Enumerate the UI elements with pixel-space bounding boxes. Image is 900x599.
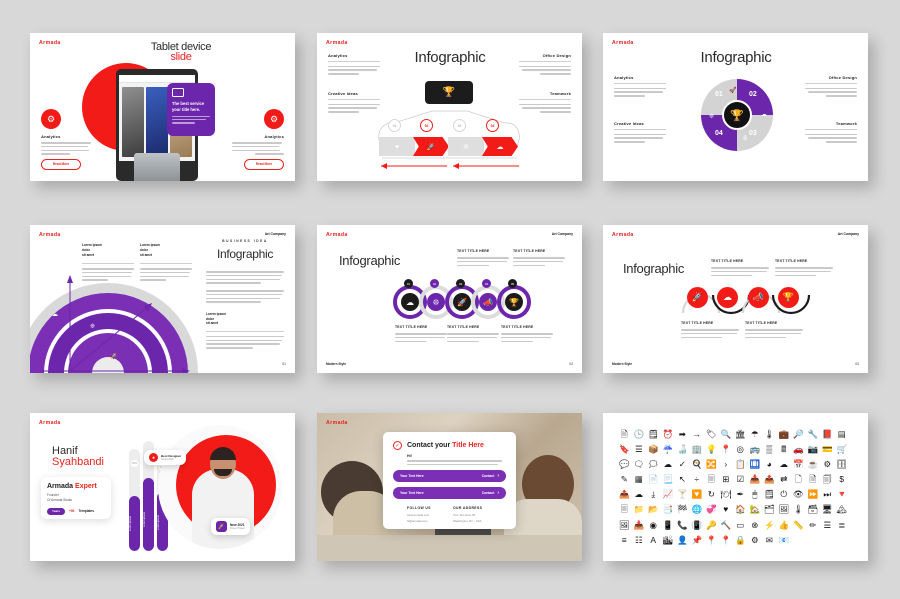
server-icon[interactable]: 🗄 bbox=[835, 457, 850, 471]
clipboard-icon[interactable]: 📋 bbox=[733, 457, 748, 471]
file-icon[interactable]: 🗎 bbox=[617, 427, 632, 441]
contact-title-primary: Contact your bbox=[407, 442, 452, 449]
tag1-sub: Award 2020 bbox=[161, 458, 181, 461]
inbox-icon[interactable]: 📥 bbox=[632, 518, 647, 532]
card-heading: TEXT TITLE HERE bbox=[681, 321, 739, 325]
chevron-icon[interactable]: › bbox=[719, 457, 734, 471]
grid-icon[interactable]: ▒ bbox=[762, 442, 777, 456]
follow-line-1: www.armada.com bbox=[407, 513, 431, 517]
mobile-icon[interactable]: 📳 bbox=[690, 518, 705, 532]
coffee-icon[interactable]: ☕ bbox=[806, 457, 821, 471]
folder-icon[interactable]: 📁 bbox=[632, 503, 647, 517]
map-pin-icon[interactable]: 📌 bbox=[690, 533, 705, 547]
slide5-bottom-card-1: TEXT TITLE HERE bbox=[395, 325, 447, 344]
slide-thumbnail-1[interactable]: Armada Tablet device slide The best serv… bbox=[30, 33, 295, 181]
list4-icon[interactable]: ☷ bbox=[632, 533, 647, 547]
thumbs-up-icon[interactable]: 👍 bbox=[777, 518, 792, 532]
mountain-icon[interactable]: 🏔 bbox=[835, 503, 850, 517]
list2-icon[interactable]: ≣ bbox=[835, 518, 850, 532]
cutlery-icon[interactable]: 🍽 bbox=[719, 488, 734, 502]
slide3-col-creative: Creative Ideas bbox=[614, 121, 666, 145]
marker-icon[interactable]: 📍 bbox=[719, 533, 734, 547]
slide-thumbnail-2[interactable]: Armada Infographic Analytics Creative Id… bbox=[317, 33, 582, 181]
suitcase-icon[interactable]: 🛄 bbox=[748, 457, 763, 471]
pin-icon[interactable]: 📍 bbox=[719, 442, 734, 456]
segment-label-03: 03 bbox=[749, 130, 757, 137]
slide1-left-heading: Analytics bbox=[41, 134, 93, 139]
swap-icon[interactable]: ⇄ bbox=[777, 472, 792, 486]
slide-thumbnail-5[interactable]: Armada Art Company Infographic TEXT TITL… bbox=[317, 225, 582, 373]
doc4-icon[interactable]: 🗎 bbox=[806, 472, 821, 486]
upload-file-icon[interactable]: 📤 bbox=[762, 472, 777, 486]
follow-us-block: FOLLOW US www.armada.com hi@armada.com bbox=[407, 506, 431, 523]
slide-thumbnail-8[interactable]: Armada ✓ Contact your Title Here Hi! You… bbox=[317, 413, 582, 561]
page-icon[interactable]: 🗏 bbox=[704, 472, 719, 486]
icon-library-grid: 🗎🕒🗒⏰➡→🏷🔍🏛☂🌡💼🔎🔧📕▤🔖☰📦☔🍶🏢💡📍◎🚌▒🖩🚗📷💳🛒💬🗨🗯☁✓🍳🔀›… bbox=[617, 427, 854, 547]
doc-icon[interactable]: 📄 bbox=[646, 472, 661, 486]
eye-icon[interactable]: 👁 bbox=[791, 488, 806, 502]
slide3-col-analytics: Analytics bbox=[614, 75, 666, 99]
company-label: Art Company bbox=[838, 232, 859, 236]
col-heading: Teamwork bbox=[519, 91, 571, 96]
card-heading: TEXT TITLE HERE bbox=[711, 259, 769, 263]
contact-field-2-value: Your Text Here bbox=[400, 491, 424, 495]
cloud-icon[interactable]: ☁ bbox=[661, 457, 676, 471]
slide1-right-button[interactable]: Read More bbox=[244, 159, 284, 170]
slide-thumbnail-7[interactable]: Armada Hanif Syahbandi Armada Expert Fou… bbox=[30, 413, 295, 561]
list3-icon[interactable]: ≡ bbox=[617, 533, 632, 547]
contact-field-1-value: Your Text Here bbox=[400, 474, 424, 478]
slide5-top-card-1: TEXT TITLE HERE bbox=[457, 249, 509, 268]
briefcase-icon[interactable]: 💼 bbox=[777, 427, 792, 441]
layout-icon[interactable]: ▤ bbox=[835, 427, 850, 441]
chevron-step-3: ❊ bbox=[448, 137, 484, 156]
slide1-left-button[interactable]: Read More bbox=[41, 159, 81, 170]
cursor-icon[interactable]: ↖ bbox=[675, 472, 690, 486]
location-icon[interactable]: 📍 bbox=[704, 533, 719, 547]
comment-icon[interactable]: 🗨 bbox=[632, 457, 647, 471]
share-icon: ⛢ bbox=[743, 135, 747, 142]
screen-block: 🏆 bbox=[425, 81, 473, 104]
box-icon[interactable]: 📦 bbox=[646, 442, 661, 456]
address-line-2: Washington, DC - USA bbox=[453, 519, 482, 523]
slide2-col-office: Office Design bbox=[519, 53, 571, 77]
wrench-icon[interactable]: 🔧 bbox=[806, 427, 821, 441]
edit-icon[interactable]: ✎ bbox=[617, 472, 632, 486]
template-label: Templates bbox=[78, 509, 94, 513]
calendar-icon[interactable]: 📅 bbox=[791, 457, 806, 471]
card-heading: TEXT TITLE HERE bbox=[775, 259, 833, 263]
contact-greeting: Hi! bbox=[407, 454, 506, 458]
tablet-icon[interactable]: 📱 bbox=[661, 518, 676, 532]
building-icon[interactable]: 🏢 bbox=[690, 442, 705, 456]
service-highlight-card: The best service your title here. bbox=[167, 83, 215, 136]
card-heading: TEXT TITLE HERE bbox=[513, 249, 565, 253]
puzzle-icon: ❊ bbox=[709, 113, 714, 120]
note-icon[interactable]: 🗒 bbox=[762, 488, 777, 502]
slide6-top-card-1: TEXT TITLE HERE bbox=[711, 259, 769, 278]
address-line-1: Your Text Here 66 bbox=[453, 513, 482, 517]
chef-icon[interactable]: 🍳 bbox=[690, 457, 705, 471]
user-icon[interactable]: 👤 bbox=[675, 533, 690, 547]
card-role: Founder bbox=[47, 493, 59, 497]
city-icon[interactable]: 🏙 bbox=[661, 533, 676, 547]
slide1-right-heading: Analytics bbox=[232, 134, 284, 139]
segment-label-02: 02 bbox=[749, 91, 757, 98]
col-heading: Office Design bbox=[805, 75, 857, 80]
brand-logo: Armada bbox=[612, 40, 634, 46]
card-heading: TEXT TITLE HERE bbox=[745, 321, 803, 325]
card-studio: Of Armada Studio bbox=[47, 498, 72, 502]
tube-value-1: 25% bbox=[130, 459, 139, 468]
fan-axis-arrows bbox=[38, 273, 198, 373]
person-shirt bbox=[192, 469, 254, 549]
camera-icon[interactable]: 📷 bbox=[806, 442, 821, 456]
plus-box-icon[interactable]: ⊞ bbox=[719, 472, 734, 486]
disc-icon[interactable]: ◉ bbox=[646, 518, 661, 532]
company-label: Art Company bbox=[265, 232, 286, 236]
col-heading: Analytics bbox=[614, 75, 666, 80]
step-badge-02: 02 bbox=[430, 279, 439, 288]
power-icon[interactable]: ⏻ bbox=[777, 488, 792, 502]
calculator-icon[interactable]: 🖩 bbox=[777, 442, 792, 456]
col-heading: Creative Ideas bbox=[614, 121, 666, 126]
cloud-icon: ☁ bbox=[761, 111, 767, 118]
ruler-icon[interactable]: 📏 bbox=[791, 518, 806, 532]
card-icon[interactable]: 💳 bbox=[820, 442, 835, 456]
slide5-bottom-card-2: TEXT TITLE HERE bbox=[447, 325, 499, 344]
rocket-icon: 🚀 bbox=[216, 521, 227, 532]
doc2-icon[interactable]: 📃 bbox=[661, 472, 676, 486]
search-icon[interactable]: 🔍 bbox=[719, 427, 734, 441]
pencil-icon[interactable]: ✏ bbox=[806, 518, 821, 532]
contact-title-accent: Title Here bbox=[452, 442, 484, 449]
mail-icon[interactable]: ✉ bbox=[762, 533, 777, 547]
fast-forward-icon[interactable]: ⏩ bbox=[806, 488, 821, 502]
company-label: Art Company bbox=[552, 232, 573, 236]
upload-icon[interactable]: 📤 bbox=[617, 488, 632, 502]
refresh-icon[interactable]: ↻ bbox=[704, 488, 719, 502]
cart-icon[interactable]: 🛒 bbox=[835, 442, 850, 456]
slide6-title: Infographic bbox=[623, 261, 684, 276]
bookmark-icon[interactable]: 🔖 bbox=[617, 442, 632, 456]
step-node-02: 02 bbox=[420, 119, 433, 132]
cloud-icon: ☁ bbox=[717, 287, 738, 308]
bank-icon[interactable]: 🏛 bbox=[733, 427, 748, 441]
alarm-icon[interactable]: ⏰ bbox=[661, 427, 676, 441]
follow-line-2: hi@armada.com bbox=[407, 519, 431, 523]
profile-name: Hanif Syahbandi bbox=[52, 445, 104, 468]
globe-icon[interactable]: 🌐 bbox=[690, 503, 705, 517]
slide-thumbnail-4[interactable]: Armada Art Company Lorem ipsumdolorsit a… bbox=[30, 225, 295, 373]
heart-icon[interactable]: ♥ bbox=[719, 503, 734, 517]
profile-info-card: Armada Expert Founder Of Armada Studio Y… bbox=[41, 477, 111, 519]
doc5-icon[interactable]: 📑 bbox=[661, 503, 676, 517]
bars-icon[interactable]: ☰ bbox=[632, 442, 647, 456]
heart-hands-icon[interactable]: 💞 bbox=[704, 503, 719, 517]
rocket-icon: 🚀 bbox=[453, 293, 471, 311]
clock-icon[interactable]: 🕒 bbox=[632, 427, 647, 441]
key-icon[interactable]: 🔑 bbox=[704, 518, 719, 532]
brand-logo: Armada bbox=[326, 420, 348, 426]
brand-logo: Armada bbox=[326, 40, 348, 46]
bulb-icon[interactable]: 💡 bbox=[704, 442, 719, 456]
thermo-icon[interactable]: 🌡 bbox=[791, 503, 806, 517]
image-icon[interactable]: 🖼 bbox=[777, 503, 792, 517]
screen-toolbar bbox=[119, 75, 195, 83]
phone-icon[interactable]: 📞 bbox=[675, 518, 690, 532]
pie-icon[interactable]: ◕ bbox=[762, 457, 777, 471]
slide-preview-canvas: Armada Tablet device slide The best serv… bbox=[0, 0, 900, 599]
arrow-right-bold-icon[interactable]: ➡ bbox=[675, 427, 690, 441]
tube-label-1: Lorem ipsum bbox=[129, 502, 140, 546]
cloud-icon: ☁ bbox=[401, 293, 419, 311]
pen-icon[interactable]: ✒ bbox=[733, 488, 748, 502]
contact-field-1[interactable]: Your Text Here Contact › bbox=[393, 470, 506, 482]
slide3-title: Infographic bbox=[693, 49, 779, 66]
card-heading: TEXT TITLE HERE bbox=[447, 325, 499, 329]
doc3-icon[interactable]: 🗋 bbox=[791, 472, 806, 486]
slide1-left-column: ⚙ Analytics Read More bbox=[41, 109, 93, 170]
step-badge-03: 03 bbox=[456, 279, 465, 288]
col-heading: Office Design bbox=[519, 53, 571, 58]
binoculars-icon[interactable]: 🔎 bbox=[791, 427, 806, 441]
bolt-icon[interactable]: ⚡ bbox=[762, 518, 777, 532]
slide-thumbnail-9[interactable]: 🗎🕒🗒⏰➡→🏷🔍🏛☂🌡💼🔎🔧📕▤🔖☰📦☔🍶🏢💡📍◎🚌▒🖩🚗📷💳🛒💬🗨🗯☁✓🍳🔀›… bbox=[603, 413, 868, 561]
follow-heading: FOLLOW US bbox=[407, 506, 431, 510]
new-project-tag: 🚀 New 2021 Power Project bbox=[211, 518, 250, 535]
download-file-icon[interactable]: 📥 bbox=[748, 472, 763, 486]
slide-thumbnail-3[interactable]: Armada Infographic Analytics Creative Id… bbox=[603, 33, 868, 181]
slide3-col-office: Office Design bbox=[805, 75, 857, 99]
trophy-icon: 🏆 bbox=[443, 87, 455, 98]
slide5-page-number: 02 bbox=[569, 362, 573, 366]
book-icon[interactable]: 📕 bbox=[820, 427, 835, 441]
card-heading: TEXT TITLE HERE bbox=[457, 249, 509, 253]
folder2-icon[interactable]: 📂 bbox=[646, 503, 661, 517]
funnel-icon[interactable]: 🔻 bbox=[835, 488, 850, 502]
service-card-text: The best service your title here. bbox=[172, 101, 210, 112]
step-node-03: 03 bbox=[453, 119, 466, 132]
slide2-title: Infographic bbox=[407, 49, 493, 66]
slide6-bottom-card-2: TEXT TITLE HERE bbox=[745, 321, 803, 340]
contact-field-2-cta: Contact bbox=[482, 491, 495, 495]
slide5-footer-left: Modern Style bbox=[326, 362, 346, 366]
slide6-top-card-2: TEXT TITLE HERE bbox=[775, 259, 833, 278]
profile-last-name: Syahbandi bbox=[52, 456, 104, 468]
slide6-page-number: 03 bbox=[855, 362, 859, 366]
slide5-top-card-2: TEXT TITLE HERE bbox=[513, 249, 565, 268]
col-heading: Analytics bbox=[328, 53, 380, 58]
house-icon[interactable]: 🏡 bbox=[748, 503, 763, 517]
years-chip: Years bbox=[47, 508, 65, 515]
mouse-icon[interactable]: 🖱 bbox=[748, 488, 763, 502]
table-surface bbox=[317, 535, 582, 561]
flag-icon[interactable]: 🏁 bbox=[675, 503, 690, 517]
chevron-step-1: ✦ bbox=[379, 137, 415, 156]
file-text-icon[interactable]: 🗒 bbox=[646, 427, 661, 441]
slide4-title: Infographic bbox=[206, 247, 284, 261]
slide6-bottom-card-1: TEXT TITLE HERE bbox=[681, 321, 739, 340]
check-icon[interactable]: ✓ bbox=[675, 457, 690, 471]
rocket-icon: 🚀 bbox=[729, 87, 736, 94]
dollar-icon[interactable]: $ bbox=[835, 472, 850, 486]
cocktail-icon[interactable]: 🍸 bbox=[675, 488, 690, 502]
slide2-col-analytics: Analytics bbox=[328, 53, 380, 77]
cancel-icon[interactable]: ⊗ bbox=[748, 518, 763, 532]
tag2-sub: Power Project bbox=[230, 527, 245, 530]
share-icon[interactable]: 🔀 bbox=[704, 457, 719, 471]
trophy-icon: 🏆 bbox=[505, 293, 523, 311]
chart-icon[interactable]: 📈 bbox=[661, 488, 676, 502]
segment-label-01: 01 bbox=[715, 91, 723, 98]
brand-logo: Armada bbox=[39, 40, 61, 46]
target-icon[interactable]: ◎ bbox=[733, 442, 748, 456]
flag-doc-icon[interactable]: 🗏 bbox=[617, 503, 632, 517]
window-icon[interactable]: ▭ bbox=[733, 518, 748, 532]
card-title-accent: Expert bbox=[75, 483, 97, 490]
contact-field-1-cta: Contact bbox=[482, 474, 495, 478]
bottle-icon[interactable]: 🍶 bbox=[675, 442, 690, 456]
check-circle-icon: ✓ bbox=[393, 441, 402, 450]
step-badge-01: 01 bbox=[404, 279, 413, 288]
step-node-01: 01 bbox=[388, 119, 401, 132]
bus-icon[interactable]: 🚌 bbox=[748, 442, 763, 456]
envelope-icon[interactable]: 📧 bbox=[777, 533, 792, 547]
card-title-primary: Armada bbox=[47, 483, 73, 490]
picture-icon[interactable]: 🖼 bbox=[617, 518, 632, 532]
slide-thumbnail-6[interactable]: Armada Art Company Infographic TEXT TITL… bbox=[603, 225, 868, 373]
contact-card: ✓ Contact your Title Here Hi! Your Text … bbox=[383, 432, 516, 529]
gear2-icon[interactable]: ⚙ bbox=[748, 533, 763, 547]
col-heading: Creative Ideas bbox=[328, 91, 380, 96]
cloud-up-icon[interactable]: ☁ bbox=[632, 488, 647, 502]
segment-label-04: 04 bbox=[715, 130, 723, 137]
download-icon[interactable]: ⤓ bbox=[646, 488, 661, 502]
chevron-right-icon: › bbox=[497, 490, 499, 496]
archive-icon[interactable]: 🗃 bbox=[806, 503, 821, 517]
slide4-eyebrow: BUSINESS IDEA bbox=[206, 239, 284, 243]
thermometer-icon[interactable]: 🌡 bbox=[762, 427, 777, 441]
divide-icon[interactable]: ÷ bbox=[690, 472, 705, 486]
slide1-title-line2: slide bbox=[126, 51, 236, 63]
best-designer-tag: ★ Best Designer Award 2020 bbox=[144, 450, 186, 465]
col-heading: Teamwork bbox=[805, 121, 857, 126]
chevron-right-icon: › bbox=[497, 473, 499, 479]
card-heading: TEXT TITLE HERE bbox=[395, 325, 447, 329]
filter-icon[interactable]: 🔽 bbox=[690, 488, 705, 502]
slide6-footer-left: Modern Style bbox=[612, 362, 632, 366]
template-count: +50 bbox=[69, 509, 74, 513]
list-icon[interactable]: ☰ bbox=[820, 518, 835, 532]
donut-center: 🏆 bbox=[722, 100, 752, 130]
step-badge-05: 05 bbox=[508, 279, 517, 288]
brand-logo: Armada bbox=[39, 232, 61, 238]
copy-icon[interactable]: 🗐 bbox=[820, 472, 835, 486]
lock-icon[interactable]: 🔒 bbox=[733, 533, 748, 547]
monitor-icon[interactable]: 🖥 bbox=[820, 503, 835, 517]
arrow-right-icon[interactable]: → bbox=[690, 427, 705, 441]
tube-label-2: Lorem ipsum bbox=[143, 494, 154, 546]
tag-icon[interactable]: 🏷 bbox=[704, 427, 719, 441]
font-icon[interactable]: A bbox=[646, 533, 661, 547]
umbrella-icon[interactable]: ☂ bbox=[748, 427, 763, 441]
monitor-stand bbox=[134, 153, 180, 181]
presentation-icon bbox=[172, 88, 184, 97]
trophy-icon: 🏆 bbox=[778, 287, 799, 308]
bottom-arrows bbox=[375, 159, 525, 173]
checkbox-icon[interactable]: ☑ bbox=[733, 472, 748, 486]
analytics-icon: ⚙ bbox=[264, 109, 284, 129]
table-icon[interactable]: ▦ bbox=[632, 472, 647, 486]
trophy-icon: 🏆 bbox=[730, 109, 744, 122]
comments-icon[interactable]: 🗯 bbox=[646, 457, 661, 471]
card-heading: TEXT TITLE HERE bbox=[501, 325, 553, 329]
home-icon[interactable]: 🏠 bbox=[733, 503, 748, 517]
slide4-page-number: 01 bbox=[282, 362, 286, 366]
address-block: OUR ADDRESS Your Text Here 66 Washington… bbox=[453, 506, 482, 523]
slide5-bottom-card-3: TEXT TITLE HERE bbox=[501, 325, 553, 344]
megaphone-icon: 📣 bbox=[748, 287, 769, 308]
rocket-icon: 🚀 bbox=[687, 287, 708, 308]
car-icon[interactable]: 🚗 bbox=[791, 442, 806, 456]
skip-icon[interactable]: ⏭ bbox=[820, 488, 835, 502]
chat-icon[interactable]: 💬 bbox=[617, 457, 632, 471]
slide4-right-panel: BUSINESS IDEA Infographic Lorem ipsumdol… bbox=[206, 239, 284, 351]
cloud2-icon[interactable]: ☁ bbox=[777, 457, 792, 471]
megaphone-icon: 📣 bbox=[479, 293, 497, 311]
step-badge-04: 04 bbox=[482, 279, 491, 288]
brand-logo: Armada bbox=[326, 232, 348, 238]
slide3-col-teamwork: Teamwork bbox=[805, 121, 857, 145]
slide1-right-column: ⚙ Analytics Read More bbox=[232, 109, 284, 170]
address-heading: OUR ADDRESS bbox=[453, 506, 482, 510]
step-node-04: 04 bbox=[486, 119, 499, 132]
gear-icon[interactable]: ⚙ bbox=[820, 457, 835, 471]
layers-icon[interactable]: 🗂 bbox=[762, 503, 777, 517]
brand-logo: Armada bbox=[612, 232, 634, 238]
tool-icon[interactable]: 🔨 bbox=[719, 518, 734, 532]
puzzle-icon: ❊ bbox=[427, 293, 445, 311]
contact-field-2[interactable]: Your Text Here Contact › bbox=[393, 487, 506, 499]
slide5-title: Infographic bbox=[339, 253, 400, 268]
brand-logo: Armada bbox=[39, 420, 61, 426]
award-icon: ★ bbox=[149, 453, 158, 462]
umbrella2-icon[interactable]: ☔ bbox=[661, 442, 676, 456]
analytics-icon: ⚙ bbox=[41, 109, 61, 129]
